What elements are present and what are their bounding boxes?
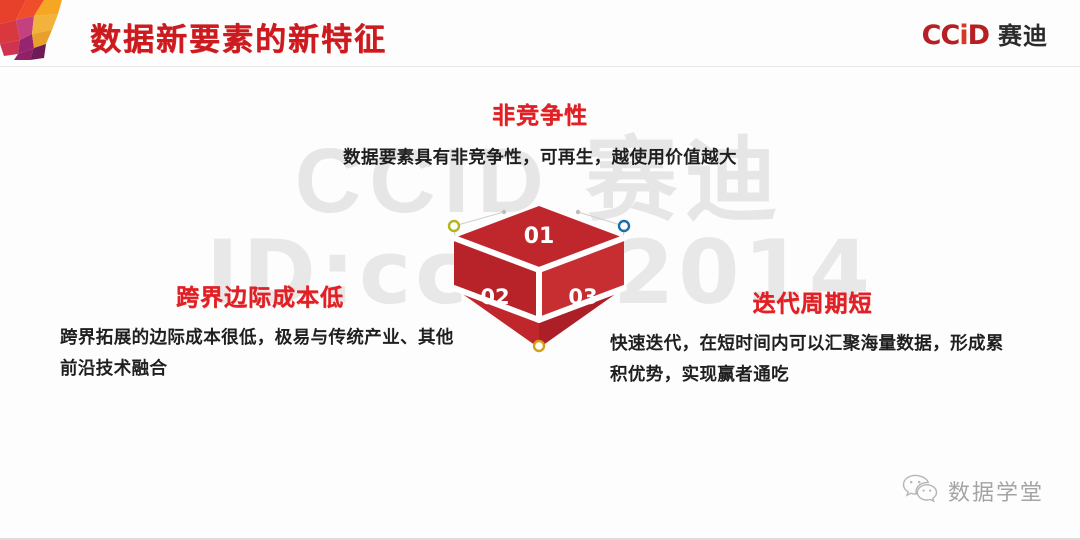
page-title: 数据新要素的新特征 — [90, 14, 387, 59]
wechat-icon — [902, 473, 938, 508]
slide-header: 数据新要素的新特征 CCiD 赛迪 — [0, 0, 1080, 68]
slide-canvas: 数据新要素的新特征 CCiD 赛迪 CCID 赛迪 ID:ccid-2014 — [0, 0, 1080, 540]
cube-face-03-label: 03 — [568, 285, 597, 309]
cube-face-02-label: 02 — [480, 285, 509, 309]
brand-mark-text: CCiD — [922, 20, 989, 51]
brand-mark-d: D — [968, 20, 989, 51]
cube-face-01-label: 01 — [524, 224, 555, 249]
node-bottom-icon — [534, 341, 544, 351]
feature-title-low-marginal-cost: 跨界边际成本低 — [60, 278, 460, 312]
brand-chinese-name: 赛迪 — [998, 16, 1048, 51]
wechat-account-badge: 数据学堂 — [902, 473, 1044, 508]
feature-body-low-marginal-cost: 跨界拓展的边际成本很低，极易与传统产业、其他前沿技术融合 — [60, 322, 460, 383]
feature-block-non-rivalry: 非竞争性 数据要素具有非竞争性，可再生，越使用价值越大 — [0, 96, 1080, 173]
feature-block-low-marginal-cost: 跨界边际成本低 跨界拓展的边际成本很低，极易与传统产业、其他前沿技术融合 — [60, 278, 460, 383]
header-divider — [0, 66, 1080, 67]
wechat-account-name: 数据学堂 — [948, 475, 1044, 507]
feature-title-short-iteration: 迭代周期短 — [610, 284, 1015, 318]
brand-mark-i: i — [959, 20, 967, 51]
feature-body-non-rivalry: 数据要素具有非竞争性，可再生，越使用价值越大 — [0, 142, 1080, 173]
feature-body-short-iteration: 快速迭代，在短时间内可以汇聚海量数据，形成累积优势，实现赢者通吃 — [610, 328, 1015, 389]
node-right-icon — [619, 221, 629, 231]
ccid-brand-logo: CCiD 赛迪 — [922, 16, 1048, 51]
feature-title-non-rivalry: 非竞争性 — [0, 96, 1080, 130]
feature-block-short-iteration: 迭代周期短 快速迭代，在短时间内可以汇聚海量数据，形成累积优势，实现赢者通吃 — [610, 284, 1015, 389]
brand-mark-cc: CC — [922, 20, 960, 51]
node-left-icon — [449, 221, 459, 231]
